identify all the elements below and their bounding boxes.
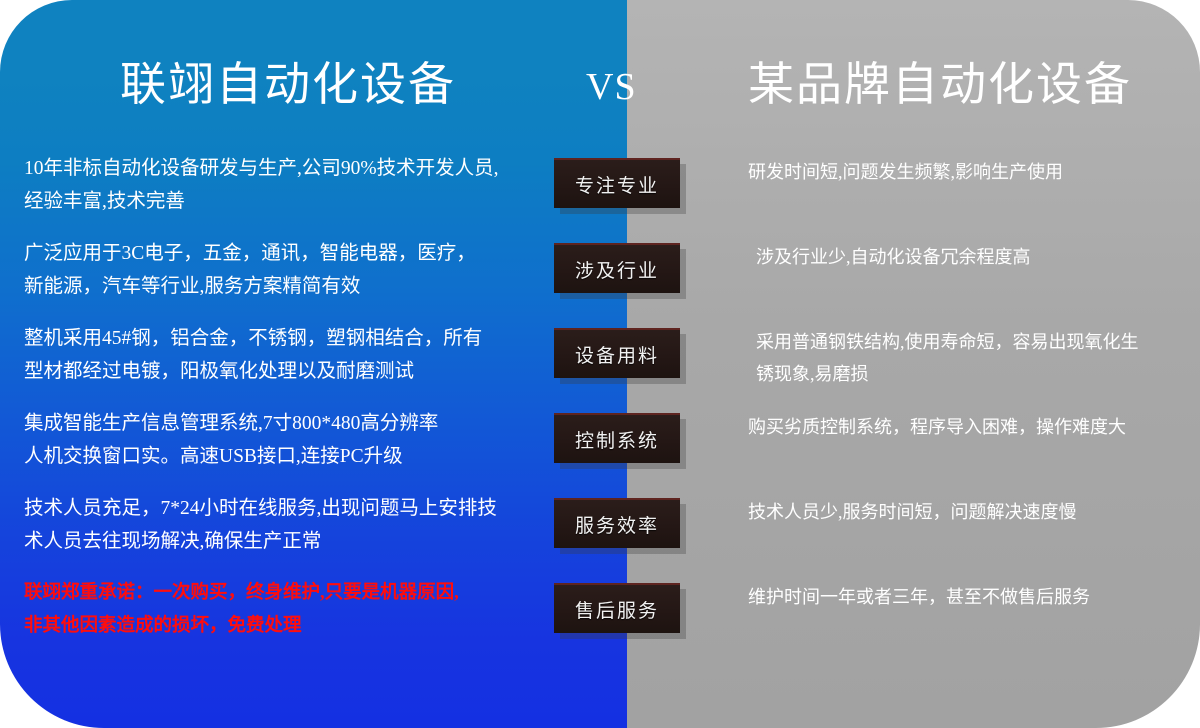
comparison-row: 技术人员充足，7*24小时在线服务,出现问题马上安排技术人员去往现场解决,确保生… (0, 492, 1200, 576)
category-badge[interactable]: 设备用料 (554, 328, 680, 378)
text-line: 新能源，汽车等行业,服务方案精简有效 (24, 270, 524, 303)
category-badge[interactable]: 涉及行业 (554, 243, 680, 293)
left-feature-text: 集成智能生产信息管理系统,7寸800*480高分辨率人机交换窗口实。高速USB接… (24, 407, 524, 473)
text-line: 人机交换窗口实。高速USB接口,连接PC升级 (24, 440, 524, 473)
category-badge[interactable]: 控制系统 (554, 413, 680, 463)
comparison-row: 广泛应用于3C电子，五金，通讯，智能电器，医疗，新能源，汽车等行业,服务方案精简… (0, 237, 1200, 321)
text-line: 经验丰富,技术完善 (24, 185, 524, 218)
text-line: 技术人员少,服务时间短，问题解决速度慢 (748, 496, 1188, 528)
text-line: 广泛应用于3C电子，五金，通讯，智能电器，医疗， (24, 237, 524, 270)
right-feature-text: 采用普通钢铁结构,使用寿命短，容易出现氧化生锈现象,易磨损 (756, 326, 1196, 390)
category-badge[interactable]: 服务效率 (554, 498, 680, 548)
comparison-row: 联翊郑重承诺：一次购买，终身维护,只要是机器原因,非其他因素造成的损坏，免费处理… (0, 577, 1200, 661)
text-line: 采用普通钢铁结构,使用寿命短，容易出现氧化生 (756, 326, 1196, 358)
comparison-row: 10年非标自动化设备研发与生产,公司90%技术开发人员,经验丰富,技术完善专注专… (0, 152, 1200, 236)
comparison-row: 集成智能生产信息管理系统,7寸800*480高分辨率人机交换窗口实。高速USB接… (0, 407, 1200, 491)
category-badge-label: 设备用料 (575, 341, 659, 368)
comparison-row: 整机采用45#钢，铝合金，不锈钢，塑钢相结合，所有型材都经过电镀，阳极氧化处理以… (0, 322, 1200, 406)
left-feature-text: 联翊郑重承诺：一次购买，终身维护,只要是机器原因,非其他因素造成的损坏，免费处理 (24, 577, 524, 643)
text-line: 锈现象,易磨损 (756, 358, 1196, 390)
text-line: 10年非标自动化设备研发与生产,公司90%技术开发人员, (24, 152, 524, 185)
text-line: 术人员去往现场解决,确保生产正常 (24, 525, 524, 558)
text-line: 购买劣质控制系统，程序导入困难，操作难度大 (748, 411, 1188, 443)
text-line: 研发时间短,问题发生频繁,影响生产使用 (748, 156, 1188, 188)
category-badge-label: 服务效率 (575, 511, 659, 538)
category-badge-label: 专注专业 (575, 171, 659, 198)
left-feature-text: 技术人员充足，7*24小时在线服务,出现问题马上安排技术人员去往现场解决,确保生… (24, 492, 524, 558)
right-feature-text: 技术人员少,服务时间短，问题解决速度慢 (748, 496, 1188, 528)
text-line: 整机采用45#钢，铝合金，不锈钢，塑钢相结合，所有 (24, 322, 524, 355)
text-line: 型材都经过电镀，阳极氧化处理以及耐磨测试 (24, 355, 524, 388)
text-line: 非其他因素造成的损坏，免费处理 (24, 610, 524, 643)
comparison-rows: 10年非标自动化设备研发与生产,公司90%技术开发人员,经验丰富,技术完善专注专… (0, 0, 1200, 728)
left-feature-text: 整机采用45#钢，铝合金，不锈钢，塑钢相结合，所有型材都经过电镀，阳极氧化处理以… (24, 322, 524, 388)
right-feature-text: 研发时间短,问题发生频繁,影响生产使用 (748, 156, 1188, 188)
category-badge[interactable]: 售后服务 (554, 583, 680, 633)
text-line: 联翊郑重承诺：一次购买，终身维护,只要是机器原因, (24, 577, 524, 610)
left-feature-text: 广泛应用于3C电子，五金，通讯，智能电器，医疗，新能源，汽车等行业,服务方案精简… (24, 237, 524, 303)
text-line: 集成智能生产信息管理系统,7寸800*480高分辨率 (24, 407, 524, 440)
right-feature-text: 购买劣质控制系统，程序导入困难，操作难度大 (748, 411, 1188, 443)
right-feature-text: 维护时间一年或者三年，甚至不做售后服务 (748, 581, 1188, 613)
comparison-slide: 联翊自动化设备 VS 某品牌自动化设备 10年非标自动化设备研发与生产,公司90… (0, 0, 1200, 728)
category-badge-label: 涉及行业 (575, 256, 659, 283)
text-line: 技术人员充足，7*24小时在线服务,出现问题马上安排技 (24, 492, 524, 525)
text-line: 维护时间一年或者三年，甚至不做售后服务 (748, 581, 1188, 613)
right-feature-text: 涉及行业少,自动化设备冗余程度高 (756, 241, 1196, 273)
category-badge[interactable]: 专注专业 (554, 158, 680, 208)
category-badge-label: 售后服务 (575, 596, 659, 623)
text-line: 涉及行业少,自动化设备冗余程度高 (756, 241, 1196, 273)
category-badge-label: 控制系统 (575, 426, 659, 453)
left-feature-text: 10年非标自动化设备研发与生产,公司90%技术开发人员,经验丰富,技术完善 (24, 152, 524, 218)
